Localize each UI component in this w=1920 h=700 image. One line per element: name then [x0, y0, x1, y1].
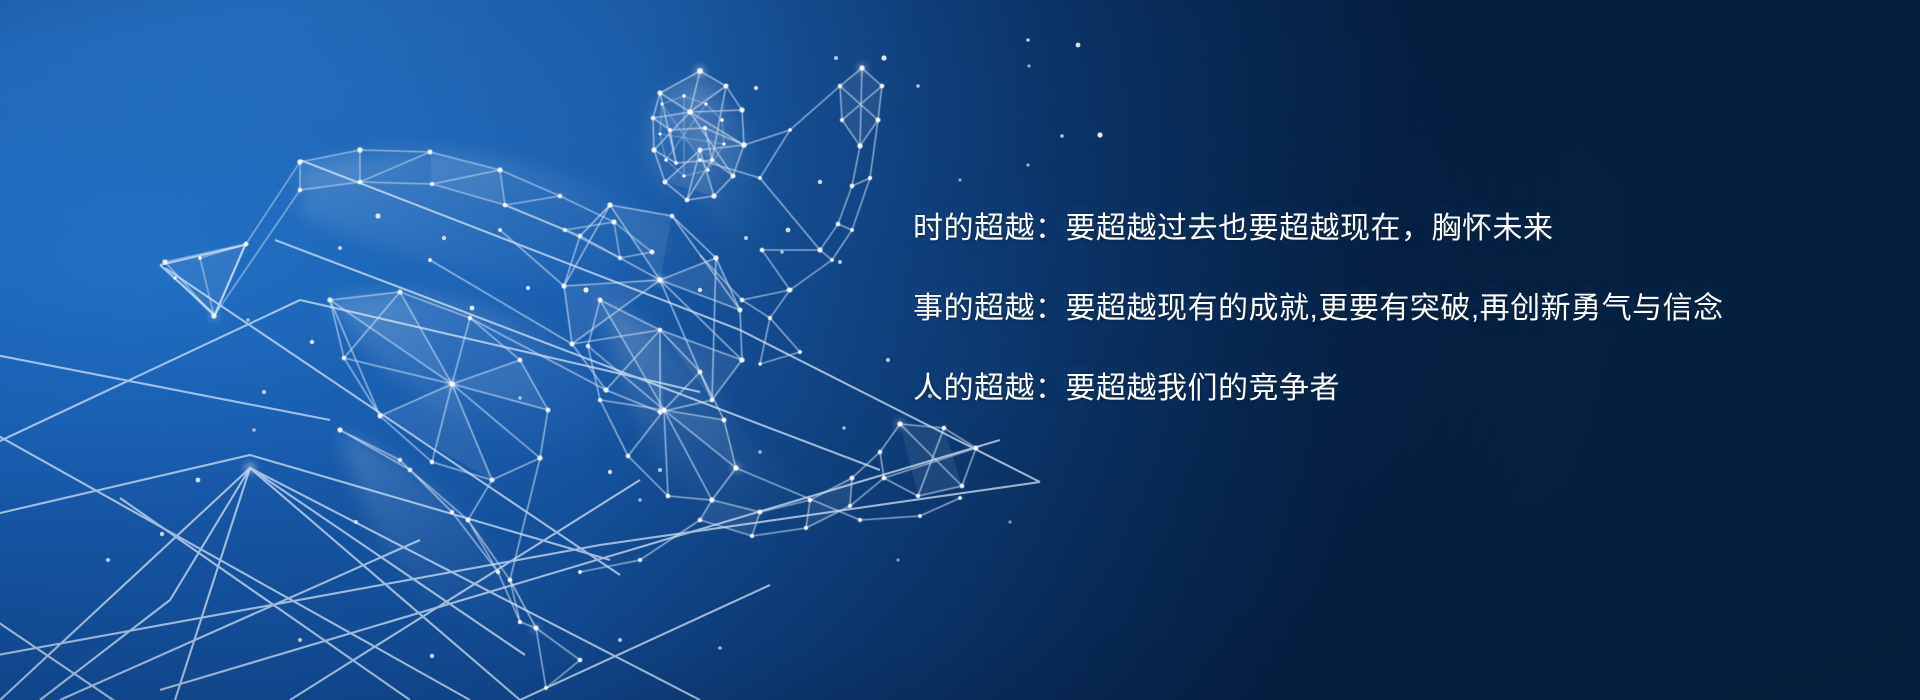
banner-line-time: 时的超越：要超越过去也要超越现在，胸怀未来: [913, 214, 1813, 244]
hero-banner: 时的超越：要超越过去也要超越现在，胸怀未来 事的超越：要超越现有的成就,更要有突…: [0, 0, 1920, 700]
banner-copy-block: 时的超越：要超越过去也要超越现在，胸怀未来 事的超越：要超越现有的成就,更要有突…: [913, 214, 1813, 404]
banner-line-matter: 事的超越：要超越现有的成就,更要有突破,再创新勇气与信念: [913, 294, 1813, 324]
banner-line-people: 人的超越：要超越我们的竞争者: [913, 374, 1813, 404]
